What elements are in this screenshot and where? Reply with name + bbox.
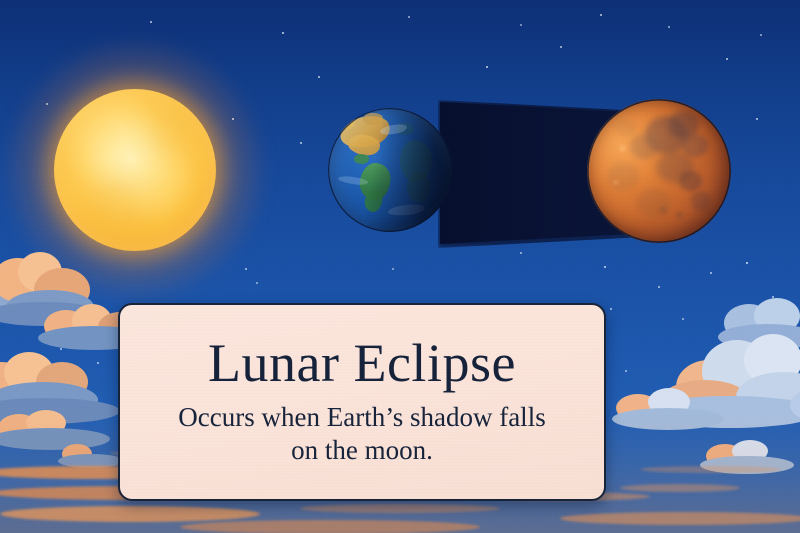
paint-grain-overlay (0, 0, 800, 533)
lunar-eclipse-illustration: Lunar Eclipse Occurs when Earth’s shadow… (0, 0, 800, 533)
